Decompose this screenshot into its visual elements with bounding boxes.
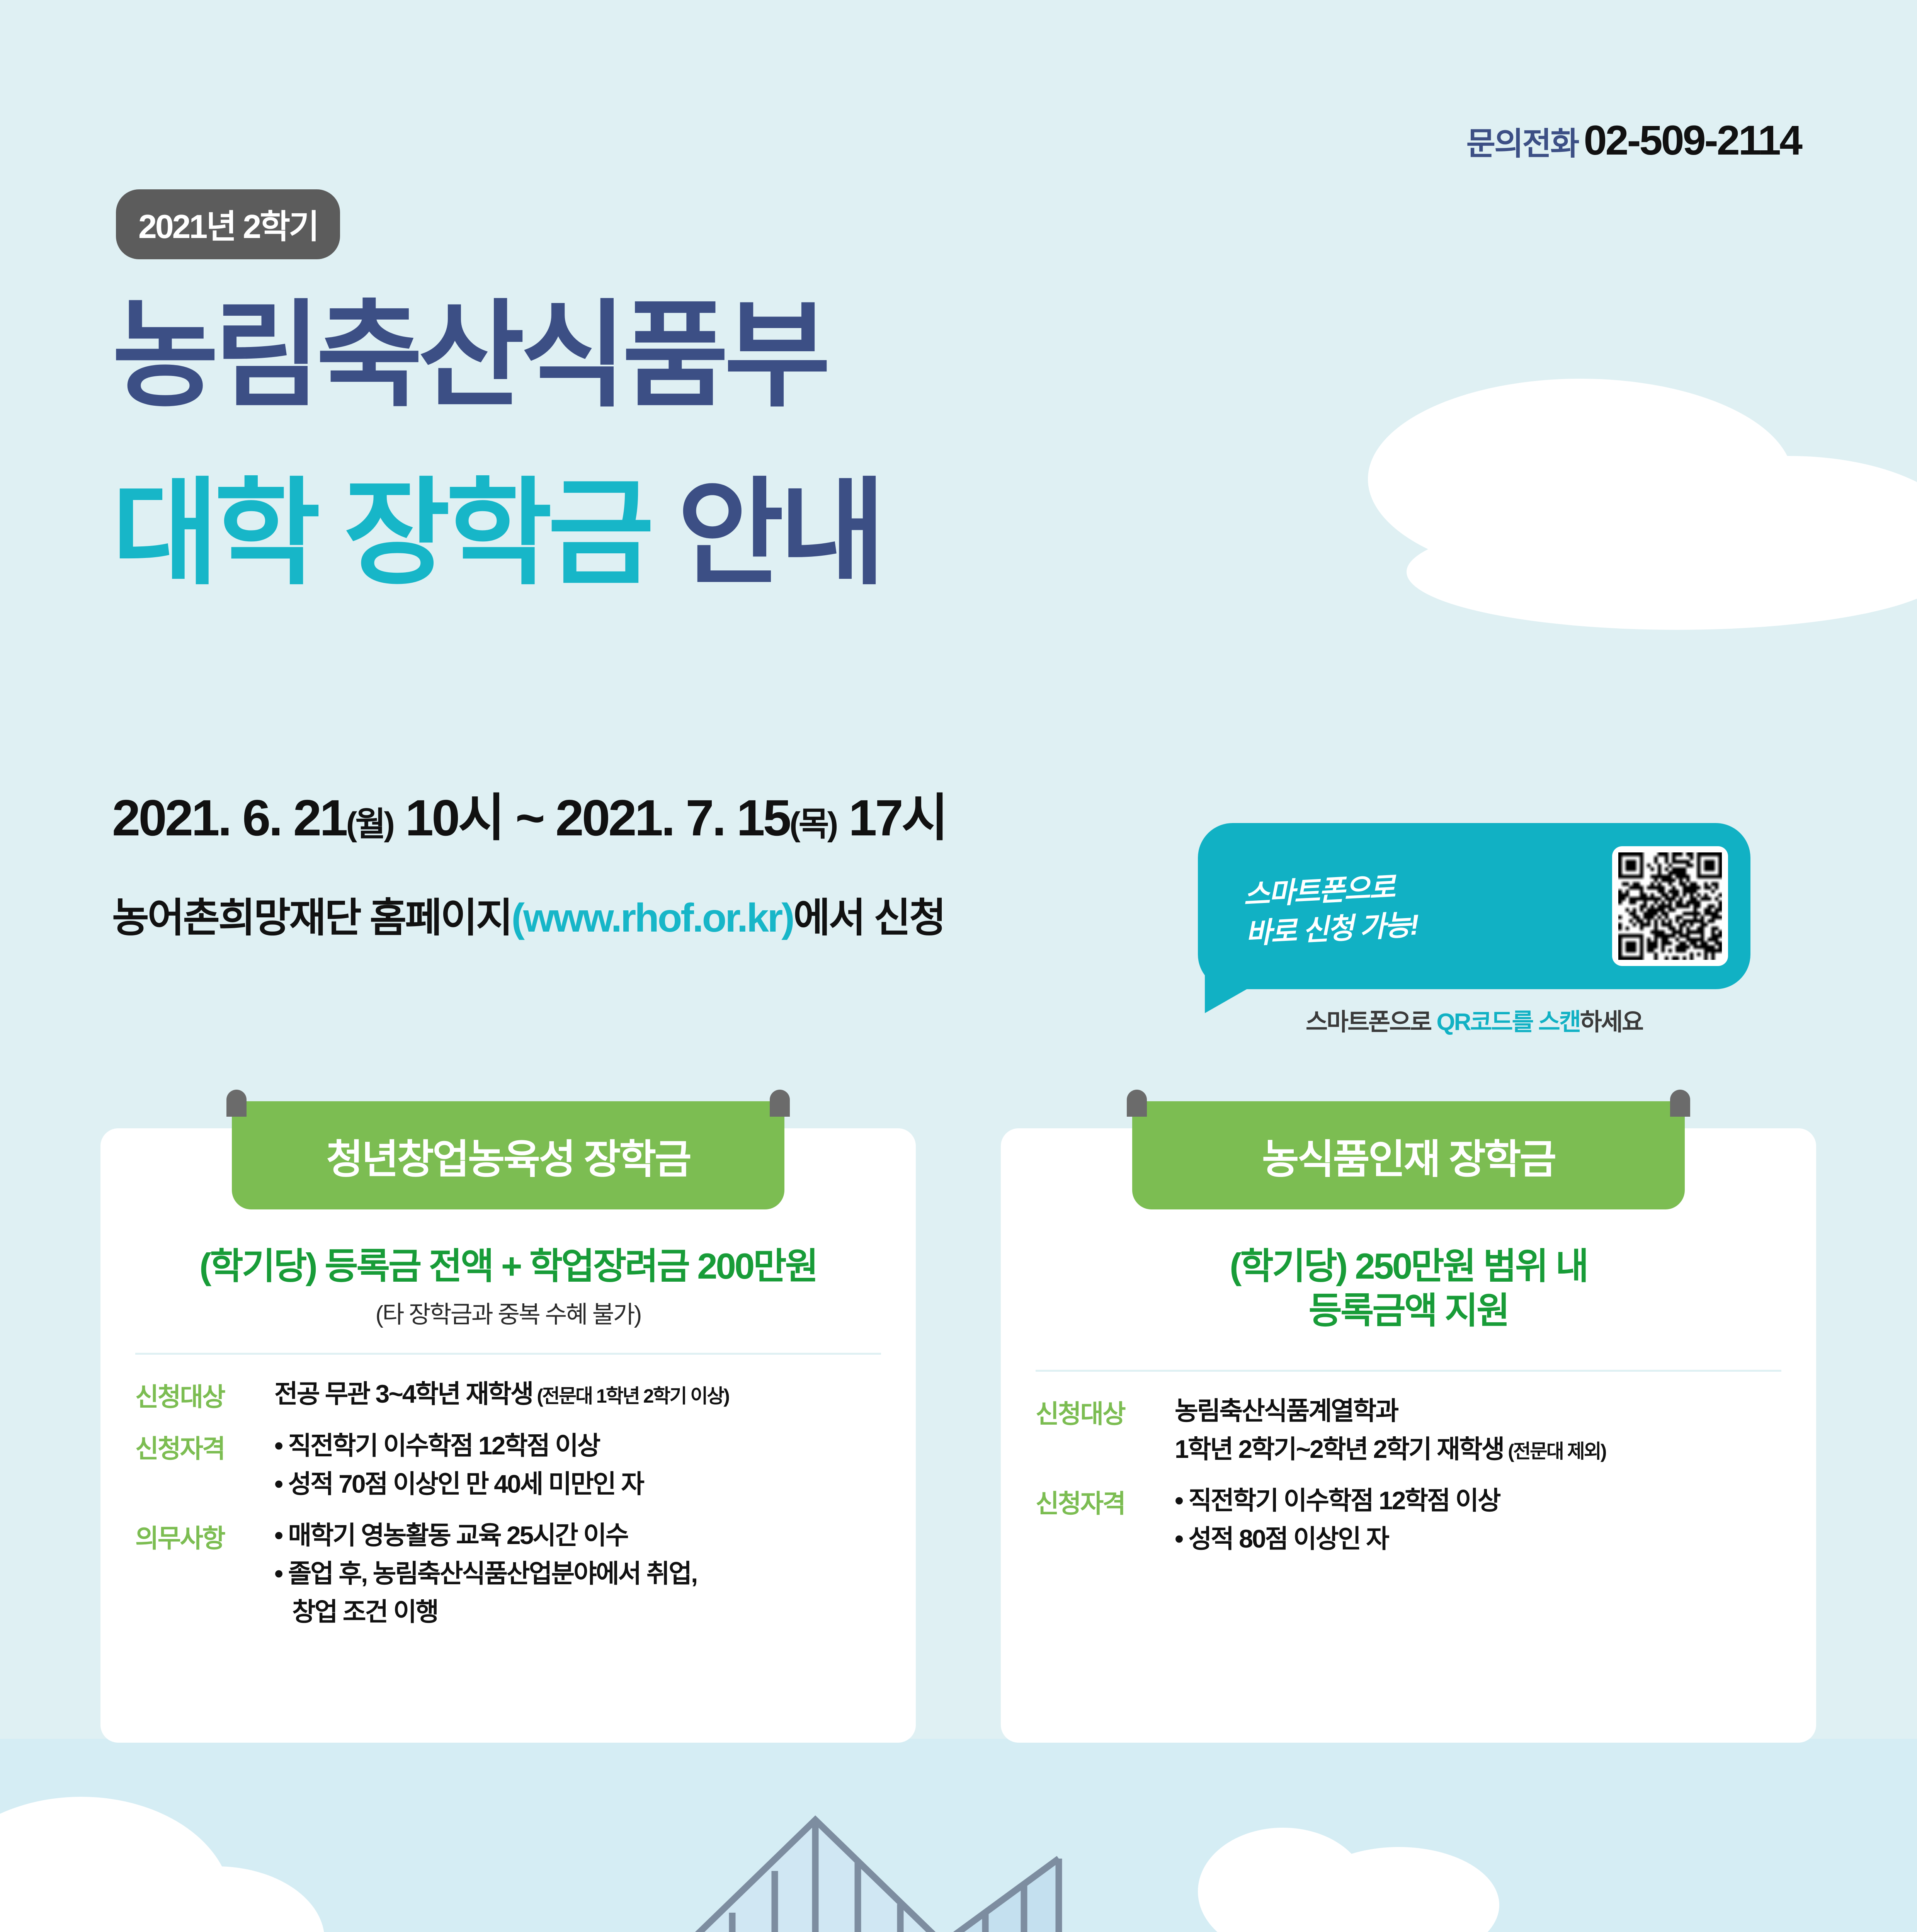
card-row: 신청자격 • 직전학기 이수학점 12학점 이상 • 성적 80점 이상인 자 <box>1036 1481 1778 1558</box>
card-row-line: 농림축산식품계열학과 <box>1175 1392 1778 1430</box>
card-title: 청년창업농육성 장학금 <box>326 1126 690 1185</box>
contact-phone: 문의전화 02-509-2114 <box>1466 116 1801 164</box>
page-title-guide: 안내 <box>677 468 881 598</box>
qr-code-canvas <box>1618 852 1722 960</box>
website-prefix: 농어촌희망재단 홈페이지 <box>112 896 511 940</box>
card-row-body: 전공 무관 3~4학년 재학생 (전문대 1학년 2학기 이상) <box>274 1375 877 1413</box>
card-row-line: • 성적 70점 이상인 만 40세 미만인 자 <box>274 1465 877 1503</box>
application-period: 2021. 6. 21(월) 10시 ~ 2021. 7. 15(목) 17시 <box>112 777 946 850</box>
card-row-line: • 졸업 후, 농림축산식품산업분야에서 취업, <box>274 1554 877 1593</box>
period-start-time: 10시 <box>405 789 503 846</box>
application-website-line: 농어촌희망재단 홈페이지(www.rhof.or.kr)에서 신청 <box>112 885 945 943</box>
card-row-label: 신청자격 <box>135 1427 274 1503</box>
card-row-line: 창업 조건 이행 <box>274 1593 877 1631</box>
card-row: 신청대상 농림축산식품계열학과 1학년 2학기~2학년 2학기 재학생 (전문대… <box>1036 1392 1778 1468</box>
card-row-body: • 매학기 영농활동 교육 25시간 이수 • 졸업 후, 농림축산식품산업분야… <box>274 1516 877 1631</box>
card-row-line: • 성적 80점 이상인 자 <box>1175 1520 1778 1558</box>
card-row-body: • 직전학기 이수학점 12학점 이상 • 성적 70점 이상인 만 40세 미… <box>274 1427 877 1503</box>
card-row: 신청자격 • 직전학기 이수학점 12학점 이상 • 성적 70점 이상인 만 … <box>135 1427 877 1503</box>
period-end-time: 17시 <box>849 789 946 846</box>
card-row-label: 신청대상 <box>1036 1392 1175 1468</box>
card-detail-rows: 신청대상 전공 무관 3~4학년 재학생 (전문대 1학년 2학기 이상) 신청… <box>100 1355 916 1631</box>
card-row-body: 농림축산식품계열학과 1학년 2학기~2학년 2학기 재학생 (전문대 제외) <box>1175 1392 1778 1468</box>
card-title-ribbon: 농식품인재 장학금 <box>1132 1101 1685 1209</box>
card-row-line: • 매학기 영농활동 교육 25시간 이수 <box>274 1516 877 1554</box>
row-line-note: (전문대 1학년 2학기 이상) <box>532 1385 728 1407</box>
row-line-note: (전문대 제외) <box>1504 1440 1606 1462</box>
card-row-line: • 직전학기 이수학점 12학점 이상 <box>1175 1481 1778 1520</box>
row-line-text: 전공 무관 3~4학년 재학생 <box>274 1379 532 1408</box>
website-suffix: 에서 신청 <box>793 896 945 940</box>
card-amount: (학기당) 등록금 전액 + 학업장려금 200만원 <box>100 1244 916 1289</box>
card-row-body: • 직전학기 이수학점 12학점 이상 • 성적 80점 이상인 자 <box>1175 1481 1778 1558</box>
greenhouse <box>522 1797 1121 1932</box>
card-row-line: • 직전학기 이수학점 12학점 이상 <box>274 1427 877 1465</box>
qr-speech-bubble: 스마트폰으로 바로 신청 가능! <box>1198 823 1750 989</box>
qr-caption: 스마트폰으로 QR코드를 스캔하세요 <box>1198 1002 1750 1037</box>
ribbon-tab-left-icon <box>226 1090 247 1117</box>
card-note: (타 장학금과 중복 수혜 불가) <box>100 1295 916 1330</box>
website-url[interactable]: (www.rhof.or.kr) <box>511 896 793 940</box>
page-title-line2: 대학 장학금 안내 <box>112 475 881 591</box>
card-row-label: 의무사항 <box>135 1516 274 1631</box>
term-badge: 2021년 2학기 <box>116 189 340 259</box>
qr-bubble-text: 스마트폰으로 바로 신청 가능! <box>1196 857 1614 956</box>
row-line-text: 1학년 2학기~2학년 2학기 재학생 <box>1175 1435 1504 1463</box>
card-title-ribbon: 청년창업농육성 장학금 <box>232 1101 784 1209</box>
period-end-date: 2021. 7. 15 <box>555 789 789 846</box>
card-row-label: 신청자격 <box>1036 1481 1175 1558</box>
card-detail-rows: 신청대상 농림축산식품계열학과 1학년 2학기~2학년 2학기 재학생 (전문대… <box>1001 1372 1816 1558</box>
farm-illustration: 농림축산식품부 HOPE KRA와 함께하는 농어촌희망재단 <box>0 1739 1917 1932</box>
qr-caption-suffix: 하세요 <box>1580 1009 1643 1036</box>
card-row-line: 1학년 2학기~2학년 2학기 재학생 (전문대 제외) <box>1175 1430 1778 1468</box>
card-row-label: 신청대상 <box>135 1375 274 1413</box>
period-start-date: 2021. 6. 21 <box>112 789 346 846</box>
card-title: 농식품인재 장학금 <box>1262 1126 1555 1185</box>
card-row-line: 전공 무관 3~4학년 재학생 (전문대 1학년 2학기 이상) <box>274 1375 877 1413</box>
period-end-day: (목) <box>789 806 836 843</box>
page-title-line1: 농림축산식품부 <box>112 298 826 413</box>
scholarship-card-youth: 청년창업농육성 장학금 (학기당) 등록금 전액 + 학업장려금 200만원 (… <box>100 1128 916 1743</box>
card-row: 신청대상 전공 무관 3~4학년 재학생 (전문대 1학년 2학기 이상) <box>135 1375 877 1413</box>
qr-caption-prefix: 스마트폰으로 <box>1306 1009 1436 1036</box>
contact-phone-number: 02-509-2114 <box>1584 116 1801 164</box>
qr-caption-highlight: QR코드를 스캔 <box>1436 1009 1580 1036</box>
period-start-day: (월) <box>346 806 393 843</box>
contact-phone-label: 문의전화 <box>1466 118 1579 164</box>
card-row: 의무사항 • 매학기 영농활동 교육 25시간 이수 • 졸업 후, 농림축산식… <box>135 1516 877 1631</box>
page-title-scholarship: 대학 장학금 <box>112 468 650 598</box>
card-amount: (학기당) 250만원 범위 내 등록금액 지원 <box>1001 1244 1816 1333</box>
ribbon-tab-left-icon <box>1127 1090 1147 1117</box>
ribbon-tab-right-icon <box>1670 1090 1690 1117</box>
ribbon-tab-right-icon <box>770 1090 790 1117</box>
header-cloud-3 <box>1407 514 1917 630</box>
qr-code[interactable] <box>1612 846 1728 966</box>
period-tilde: ~ <box>503 789 555 846</box>
qr-section: 스마트폰으로 바로 신청 가능! 스마트폰으로 QR코드를 스캔하세요 <box>1198 823 1750 1037</box>
poster-root: 문의전화 02-509-2114 2021년 2학기 농림축산식품부 대학 장학… <box>0 0 1917 1932</box>
scholarship-card-agrifood: 농식품인재 장학금 (학기당) 250만원 범위 내 등록금액 지원 신청대상 … <box>1001 1128 1816 1743</box>
